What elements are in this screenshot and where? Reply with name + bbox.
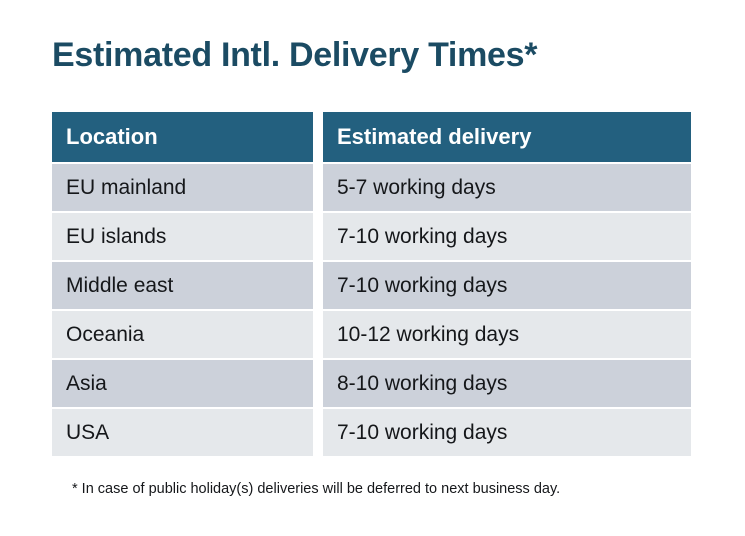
- cell-estimated-delivery: 7-10 working days: [323, 262, 691, 309]
- cell-estimated-delivery: 8-10 working days: [323, 360, 691, 407]
- cell-location: Oceania: [52, 311, 313, 358]
- page-title: Estimated Intl. Delivery Times*: [52, 36, 537, 75]
- column-header-location: Location: [52, 112, 313, 162]
- table-row: EU mainland 5-7 working days: [52, 164, 691, 211]
- cell-location: Middle east: [52, 262, 313, 309]
- column-gap: [313, 409, 323, 456]
- cell-location: EU islands: [52, 213, 313, 260]
- column-gap: [313, 164, 323, 211]
- cell-location: Asia: [52, 360, 313, 407]
- table-row: EU islands 7-10 working days: [52, 213, 691, 260]
- footnote: * In case of public holiday(s) deliverie…: [72, 481, 560, 497]
- cell-estimated-delivery: 7-10 working days: [323, 213, 691, 260]
- column-gap: [313, 262, 323, 309]
- column-gap: [313, 213, 323, 260]
- cell-location: EU mainland: [52, 164, 313, 211]
- cell-estimated-delivery: 10-12 working days: [323, 311, 691, 358]
- column-gap: [313, 311, 323, 358]
- table-row: Middle east 7-10 working days: [52, 262, 691, 309]
- cell-location: USA: [52, 409, 313, 456]
- table-row: Oceania 10-12 working days: [52, 311, 691, 358]
- table-header-row: Location Estimated delivery: [52, 112, 691, 162]
- delivery-times-panel: Estimated Intl. Delivery Times* Location…: [0, 0, 745, 536]
- column-gap: [313, 112, 323, 162]
- table-row: USA 7-10 working days: [52, 409, 691, 456]
- column-header-estimated-delivery: Estimated delivery: [323, 112, 691, 162]
- cell-estimated-delivery: 5-7 working days: [323, 164, 691, 211]
- table-row: Asia 8-10 working days: [52, 360, 691, 407]
- delivery-times-table: Location Estimated delivery EU mainland …: [52, 112, 691, 458]
- column-gap: [313, 360, 323, 407]
- cell-estimated-delivery: 7-10 working days: [323, 409, 691, 456]
